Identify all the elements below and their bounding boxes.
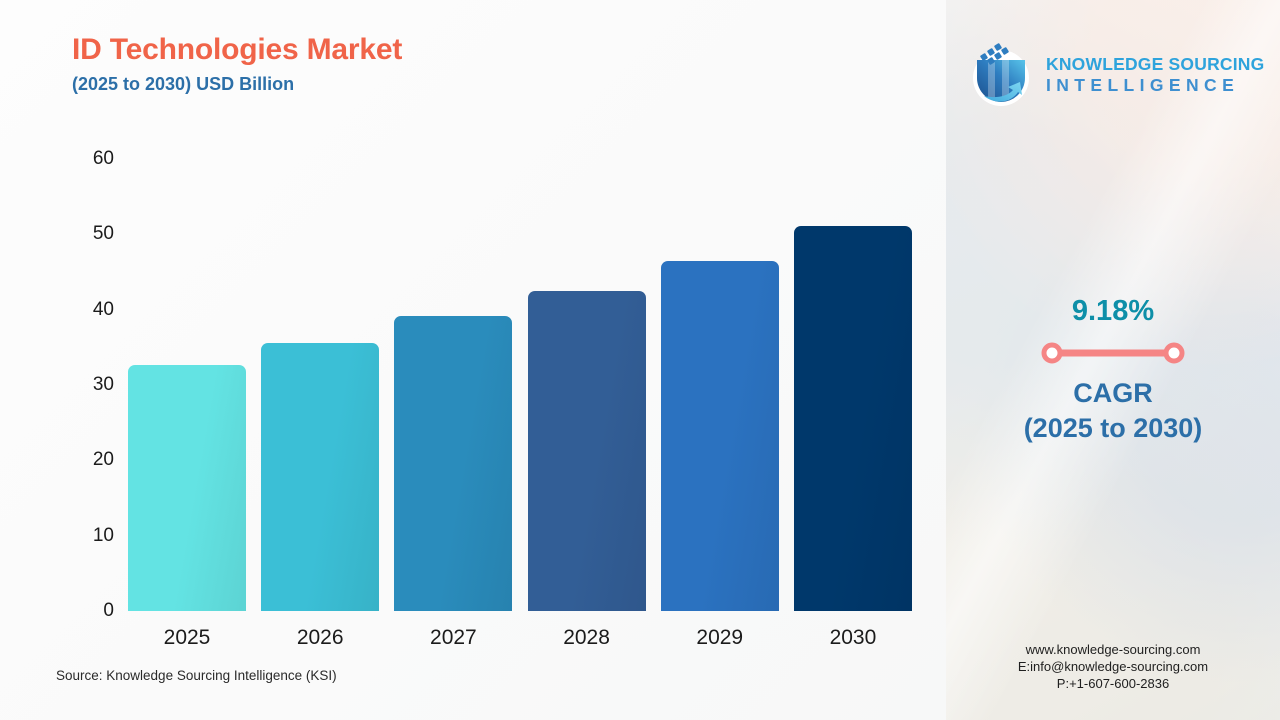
x-axis-tick: 2029	[661, 620, 779, 650]
bar-column[interactable]	[128, 159, 246, 611]
bar-column[interactable]	[661, 159, 779, 611]
y-axis-tick: 10	[93, 525, 114, 547]
contact-block: www.knowledge-sourcing.com E:info@knowle…	[946, 641, 1280, 692]
bar-column[interactable]	[394, 159, 512, 611]
brand-logo[interactable]: KNOWLEDGE SOURCING INTELLIGENCE	[964, 34, 1264, 116]
cagr-range: (2025 to 2030)	[946, 411, 1280, 446]
x-axis-tick: 2027	[394, 620, 512, 650]
bar-2027[interactable]	[394, 316, 512, 611]
bar-2025[interactable]	[128, 365, 246, 611]
y-axis-tick: 20	[93, 449, 114, 471]
brand-logo-text: KNOWLEDGE SOURCING INTELLIGENCE	[1046, 56, 1264, 95]
y-axis-tick: 60	[93, 148, 114, 170]
page-title: ID Technologies Market	[72, 32, 402, 68]
bar-column[interactable]	[261, 159, 379, 611]
chart-panel: ID Technologies Market (2025 to 2030) US…	[0, 0, 946, 720]
brand-name-secondary: INTELLIGENCE	[1046, 77, 1264, 95]
source-note: Source: Knowledge Sourcing Intelligence …	[56, 668, 337, 683]
contact-website[interactable]: www.knowledge-sourcing.com	[946, 641, 1280, 658]
cagr-connector-icon	[1038, 342, 1188, 364]
y-axis: 0102030405060	[72, 150, 122, 620]
y-axis-tick: 50	[93, 223, 114, 245]
x-axis-tick: 2026	[261, 620, 379, 650]
cagr-block: 9.18% CAGR (2025 to 2030)	[946, 296, 1280, 446]
y-axis-tick: 40	[93, 299, 114, 321]
bar-2026[interactable]	[261, 343, 379, 611]
bar-2030[interactable]	[794, 226, 912, 611]
brand-panel: KNOWLEDGE SOURCING INTELLIGENCE 9.18% CA…	[946, 0, 1280, 720]
bar-column[interactable]	[528, 159, 646, 611]
y-axis-tick: 30	[93, 374, 114, 396]
contact-phone: P:+1-607-600-2836	[946, 675, 1280, 692]
cagr-label: CAGR	[946, 376, 1280, 411]
brand-name-primary: KNOWLEDGE SOURCING	[1046, 56, 1264, 74]
bars-area	[128, 159, 912, 611]
bar-column[interactable]	[794, 159, 912, 611]
y-axis-tick: 0	[103, 600, 114, 622]
page-subtitle: (2025 to 2030) USD Billion	[72, 74, 402, 96]
cagr-value: 9.18%	[946, 296, 1280, 328]
infographic-root: ID Technologies Market (2025 to 2030) US…	[0, 0, 1280, 720]
title-block: ID Technologies Market (2025 to 2030) US…	[72, 32, 402, 96]
contact-email[interactable]: E:info@knowledge-sourcing.com	[946, 658, 1280, 675]
bar-chart-plot: 0102030405060 202520262027202820292030	[72, 150, 912, 620]
bar-2029[interactable]	[661, 261, 779, 611]
x-axis-tick: 2028	[528, 620, 646, 650]
x-axis-tick: 2025	[128, 620, 246, 650]
bar-2028[interactable]	[528, 291, 646, 611]
knowledge-sourcing-logo-icon	[964, 38, 1038, 112]
x-axis: 202520262027202820292030	[128, 620, 912, 650]
x-axis-tick: 2030	[794, 620, 912, 650]
